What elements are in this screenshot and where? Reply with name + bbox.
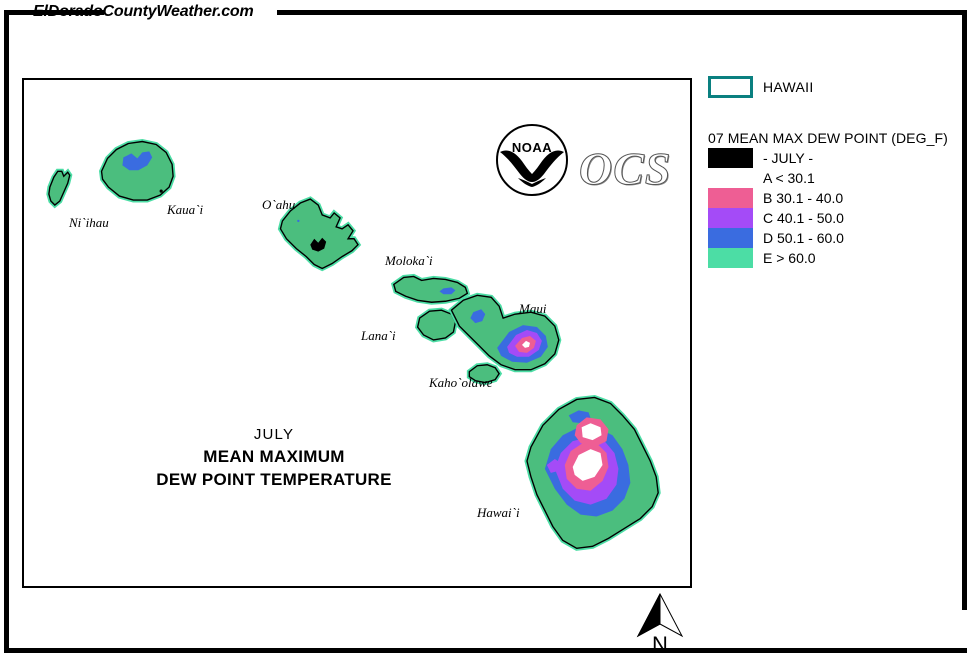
frame-right-edge: [962, 10, 967, 610]
legend-label-c: C 40.1 - 50.0: [763, 210, 844, 226]
legend-swatch-a: [708, 168, 753, 188]
map-title-block: JULY MEAN MAXIMUM DEW POINT TEMPERATURE: [129, 426, 419, 490]
svg-text:NOAA: NOAA: [512, 140, 552, 155]
island-label-molokai: Moloka`i: [385, 253, 433, 269]
legend-region-key: HAWAII: [708, 76, 958, 100]
island-molokai: [394, 276, 468, 302]
legend-swatch-july: [708, 148, 753, 168]
island-label-hawaii: Hawai`i: [477, 505, 520, 521]
legend-swatch-d: [708, 228, 753, 248]
compass-rose: N: [632, 592, 688, 658]
island-hawaii: [527, 397, 658, 548]
island-label-lanai: Lana`i: [361, 328, 396, 344]
legend-label-a: A < 30.1: [763, 170, 815, 186]
island-kauai: [102, 142, 174, 201]
legend-row-c: C 40.1 - 50.0: [708, 208, 958, 228]
legend-row-a: A < 30.1: [708, 168, 958, 188]
island-label-kauai: Kaua`i: [167, 202, 203, 218]
island-label-oahu: O`ahu: [262, 197, 295, 213]
compass-north-label: N: [632, 632, 688, 658]
legend-label-e: E > 60.0: [763, 250, 816, 266]
frame-top-right-stub: [277, 10, 967, 15]
site-title: ElDoradoCountyWeather.com: [33, 3, 254, 21]
legend-label-b: B 30.1 - 40.0: [763, 190, 843, 206]
legend-label-july: - JULY -: [763, 150, 813, 166]
legend-row-d: D 50.1 - 60.0: [708, 228, 958, 248]
legend-swatch-c: [708, 208, 753, 228]
noaa-logo-icon: NOAA: [494, 122, 570, 198]
legend-row-b: B 30.1 - 40.0: [708, 188, 958, 208]
island-label-maui: Maui: [519, 301, 546, 317]
island-niihau: [49, 171, 70, 205]
ocs-logo-text: OCS: [579, 142, 671, 195]
island-lanai: [418, 310, 456, 340]
map-title-month: JULY: [129, 426, 419, 443]
island-label-kahoolawe: Kaho`olawe: [429, 375, 493, 391]
map-legend: HAWAII 07 MEAN MAX DEW POINT (DEG_F) - J…: [708, 76, 958, 268]
island-label-niihau: Ni`ihau: [69, 215, 109, 231]
legend-row-july: - JULY -: [708, 148, 958, 168]
legend-region-label: HAWAII: [763, 79, 814, 95]
legend-swatch-b: [708, 188, 753, 208]
legend-title: 07 MEAN MAX DEW POINT (DEG_F): [708, 130, 958, 146]
map-title-line1: MEAN MAXIMUM: [129, 447, 419, 467]
legend-label-d: D 50.1 - 60.0: [763, 230, 844, 246]
legend-swatch-e: [708, 248, 753, 268]
legend-region-swatch: [708, 76, 753, 98]
map-panel[interactable]: .isl-outline { stroke:#000; stroke-width…: [22, 78, 692, 588]
legend-row-e: E > 60.0: [708, 248, 958, 268]
map-title-line2: DEW POINT TEMPERATURE: [129, 470, 419, 490]
